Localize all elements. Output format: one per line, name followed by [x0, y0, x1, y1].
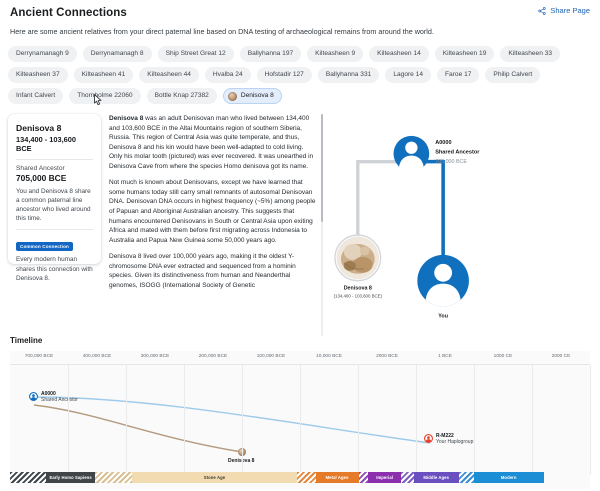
- timeline-gridline: [68, 365, 69, 475]
- page-header: Ancient Connections Share Page: [0, 0, 600, 19]
- ancestor-date: 705,000 BCE: [435, 159, 467, 165]
- relative-chip[interactable]: Kilteasheen 33: [500, 46, 560, 62]
- relative-chip-label: Kilteasheen 37: [16, 71, 60, 78]
- timeline-marker-a0000[interactable]: [29, 392, 38, 401]
- info-card-dates: 134,400 - 103,600 BCE: [16, 135, 93, 153]
- relative-chip[interactable]: Hofstadir 127: [257, 67, 312, 83]
- timeline-marker-r-m222[interactable]: [424, 434, 433, 443]
- tree-node-you[interactable]: [417, 255, 469, 307]
- shared-ancestor-date: 705,000 BCE: [16, 173, 93, 183]
- divider: [16, 229, 93, 230]
- relative-chip-label: Kilteasheen 41: [82, 71, 126, 78]
- shared-ancestor-label: Shared Ancestor: [16, 165, 93, 172]
- relative-chip-label: Kilteasheen 19: [443, 50, 487, 57]
- ancestor-haplogroup: A0000: [435, 140, 451, 146]
- detail-content: Denisova 8 134,400 - 103,600 BCE Shared …: [8, 114, 590, 336]
- tooth-thumbnail-icon: [228, 92, 237, 101]
- relative-chip-label: Hvalba 24: [213, 71, 243, 78]
- relative-chip[interactable]: Ship Street Great 12: [158, 46, 234, 62]
- timeline-axis-tick: 2000 CE: [552, 354, 571, 359]
- timeline-era: Imperial: [368, 472, 400, 483]
- timeline-chart[interactable]: 700,000 BCE400,000 BCE300,000 BCE200,000…: [10, 351, 590, 489]
- timeline-axis-tick: 700,000 BCE: [25, 354, 54, 359]
- timeline-era: Modern: [474, 472, 544, 483]
- timeline-era-label: Stone Age: [204, 475, 225, 480]
- timeline-axis-tick: 2000 BCE: [376, 354, 398, 359]
- relative-chip-label: Infant Calvert: [16, 92, 55, 99]
- description-lead: Denisova 8: [109, 115, 143, 122]
- relative-chip-label: Lagore 14: [393, 71, 423, 78]
- timeline-node-0-sub: Shared Ancestor: [41, 397, 78, 403]
- timeline-era: [95, 472, 132, 483]
- relative-chip-label: Ship Street Great 12: [166, 50, 226, 57]
- relative-chip[interactable]: Infant Calvert: [8, 88, 63, 104]
- timeline-axis-tick: 200,000 BCE: [199, 354, 228, 359]
- timeline-era-label: Metal Ages: [326, 475, 349, 480]
- relative-chip-label: Faroe 17: [445, 71, 471, 78]
- timeline-era: Middle Ages: [414, 472, 459, 483]
- timeline-axis-tick: 1 BCE: [438, 354, 452, 359]
- timeline-era-label: Imperial: [376, 475, 393, 480]
- timeline-era: [297, 472, 316, 483]
- description-text: Denisova 8 was an adult Denisovan man wh…: [109, 114, 324, 290]
- relative-chip[interactable]: Ballyhanna 197: [240, 46, 301, 62]
- denisova-node-name: Denisova 8: [344, 286, 372, 292]
- timeline-axis-tick: 1000 CE: [494, 354, 513, 359]
- timeline-axis: 700,000 BCE400,000 BCE300,000 BCE200,000…: [10, 351, 590, 365]
- info-card-name: Denisova 8: [16, 123, 93, 133]
- timeline-era: Metal Ages: [316, 472, 359, 483]
- relative-chip-label: Bottle Knap 27382: [155, 92, 209, 99]
- timeline-era: [10, 472, 46, 483]
- ancestor-label: Shared Ancestor: [435, 150, 480, 156]
- timeline-axis-tick: 400,000 BCE: [83, 354, 112, 359]
- you-node-label: You: [438, 313, 448, 319]
- timeline-era: Stone Age: [132, 472, 297, 483]
- relative-chip[interactable]: Bottle Knap 27382: [147, 88, 217, 104]
- relative-chip[interactable]: Derrynamanagh 8: [83, 46, 152, 62]
- timeline-era: [359, 472, 369, 483]
- timeline-gridline: [300, 365, 301, 475]
- relative-chip-label: Hofstadir 127: [265, 71, 304, 78]
- relative-chip-label: Ballyhanna 331: [326, 71, 371, 78]
- timeline-gridline: [532, 365, 533, 475]
- relative-chip-label: Denisova 8: [241, 92, 274, 100]
- timeline-gridline: [242, 365, 243, 475]
- description-paragraph-3: Denisova 8 lived over 100,000 years ago,…: [109, 252, 317, 290]
- timeline-era: [401, 472, 414, 483]
- relative-chip-label: Thornholme 22060: [77, 92, 132, 99]
- common-connection-description: Every modern human shares this connectio…: [16, 255, 93, 282]
- timeline-gridline: [126, 365, 127, 475]
- relative-chip[interactable]: Kilteasheen 14: [369, 46, 429, 62]
- timeline-label-r-m222: R-M222 Your Haplogroup: [436, 433, 473, 446]
- relative-chip[interactable]: Thornholme 22060: [69, 88, 140, 104]
- timeline-era: [459, 472, 474, 483]
- tree-diagram: A0000 Shared Ancestor 705,000 BCE Deniso…: [332, 114, 590, 334]
- timeline-plot: A0000 Shared Ancestor R-M222 Your Haplog…: [10, 365, 590, 475]
- timeline-gridline: [474, 365, 475, 475]
- share-icon: [538, 7, 546, 15]
- intro-text: Here are some ancient relatives from you…: [10, 27, 590, 36]
- relative-chip-label: Philip Calvert: [493, 71, 532, 78]
- timeline-era-label: Early Homo Sapiens: [49, 475, 91, 480]
- relative-chip[interactable]: Denisova 8: [223, 88, 282, 104]
- timeline-gridline: [416, 365, 417, 475]
- relative-chip[interactable]: Kilteasheen 19: [435, 46, 495, 62]
- description-panel: Denisova 8 was an adult Denisovan man wh…: [109, 114, 324, 336]
- relative-chip[interactable]: Ballyhanna 331: [318, 67, 379, 83]
- timeline-title: Timeline: [10, 336, 600, 345]
- timeline-node-1-sub: Your Haplogroup: [436, 439, 473, 445]
- timeline-era-label: Modern: [501, 475, 517, 480]
- timeline-era: Early Homo Sapiens: [46, 472, 95, 483]
- relationship-tree: A0000 Shared Ancestor 705,000 BCE Deniso…: [332, 114, 590, 336]
- share-page-label: Share Page: [550, 6, 590, 15]
- timeline-gridline: [358, 365, 359, 475]
- timeline-axis-tick: 10,000 BCE: [316, 354, 342, 359]
- relative-chip-label: Kilteasheen 9: [315, 50, 355, 57]
- relative-chip[interactable]: Kilteasheen 44: [139, 67, 199, 83]
- tree-node-denisova-8[interactable]: [335, 235, 381, 281]
- ancient-relatives-chip-list: Derrynamanagh 9Derrynamanagh 8Ship Stree…: [8, 46, 592, 104]
- denisova-node-dates: (134,400 - 103,600 BCE): [334, 294, 383, 299]
- relative-chip-label: Kilteasheen 14: [377, 50, 421, 57]
- page-title: Ancient Connections: [10, 7, 590, 19]
- relative-chip[interactable]: Derrynamanagh 9: [8, 46, 77, 62]
- relative-chip[interactable]: Kilteasheen 41: [74, 67, 134, 83]
- timeline-label-a0000: A0000 Shared Ancestor: [41, 391, 78, 404]
- timeline-gridline: [590, 365, 591, 475]
- relative-chip-label: Kilteasheen 44: [147, 71, 191, 78]
- relative-info-card: Denisova 8 134,400 - 103,600 BCE Shared …: [8, 114, 101, 264]
- timeline-era-label: Middle Ages: [423, 475, 449, 480]
- relative-chip[interactable]: Faroe 17: [437, 67, 479, 83]
- timeline-gridline: [184, 365, 185, 475]
- description-scrollbar-thumb[interactable]: [321, 114, 324, 222]
- divider: [16, 159, 93, 160]
- relative-chip-label: Ballyhanna 197: [248, 50, 293, 57]
- description-paragraph-1: Denisova 8 was an adult Denisovan man wh…: [109, 114, 317, 171]
- timeline-section: Timeline 700,000 BCE400,000 BCE300,000 B…: [0, 336, 600, 489]
- relative-chip[interactable]: Kilteasheen 37: [8, 67, 68, 83]
- relative-chip-label: Kilteasheen 33: [508, 50, 552, 57]
- relative-chip[interactable]: Philip Calvert: [485, 67, 540, 83]
- relative-chip[interactable]: Hvalba 24: [205, 67, 251, 83]
- description-paragraph-2: Not much is known about Denisovans, exce…: [109, 178, 317, 245]
- timeline-axis-tick: 300,000 BCE: [141, 354, 170, 359]
- common-connection-badge: Common Connection: [16, 242, 73, 251]
- relative-chip[interactable]: Lagore 14: [385, 67, 431, 83]
- shared-ancestor-description: You and Denisova 8 share a common patern…: [16, 187, 93, 223]
- timeline-axis-tick: 100,000 BCE: [257, 354, 286, 359]
- description-p1-rest: was an adult Denisovan man who lived bet…: [109, 115, 313, 170]
- relative-chip-label: Derrynamanagh 9: [16, 50, 69, 57]
- timeline-era-bar: Early Homo SapiensStone AgeMetal AgesImp…: [10, 472, 590, 483]
- tree-node-ancestor[interactable]: [394, 136, 430, 172]
- share-page-button[interactable]: Share Page: [538, 6, 590, 15]
- relative-chip-label: Derrynamanagh 8: [91, 50, 144, 57]
- relative-chip[interactable]: Kilteasheen 9: [307, 46, 363, 62]
